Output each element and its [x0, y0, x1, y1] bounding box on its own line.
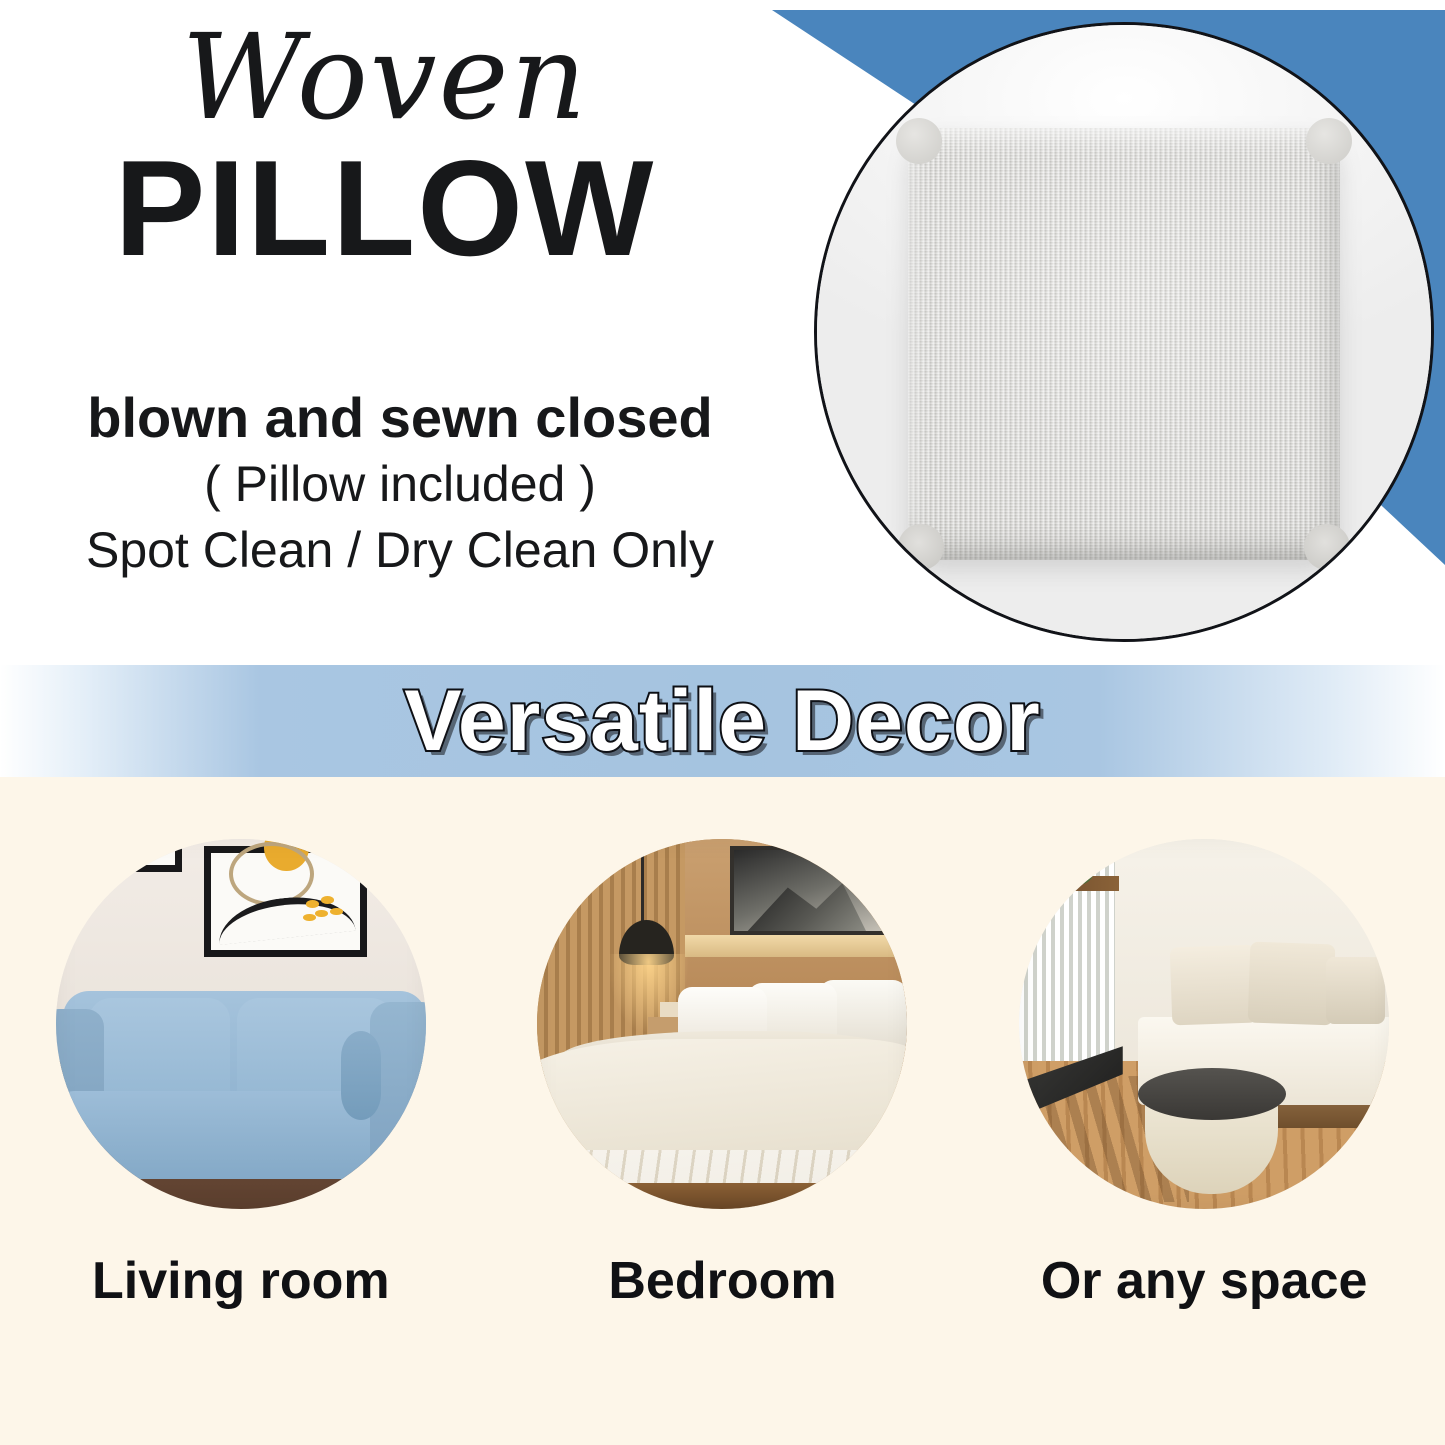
mountain-artwork	[730, 846, 908, 935]
page-title-script: Woven	[0, 18, 770, 136]
usage-section: Living room	[0, 777, 1445, 1445]
living-room-photo	[56, 839, 426, 1209]
pendant-lamp-cord	[641, 846, 644, 927]
usage-card-label: Living room	[92, 1251, 390, 1311]
living-room-scene	[56, 839, 426, 1209]
woven-pillow-image	[908, 128, 1340, 560]
pillow-corner-bottom-left	[898, 524, 944, 570]
feature-list: blown and sewn closed ( Pillow included …	[0, 385, 800, 583]
outdoor-greenery	[1056, 846, 1100, 890]
daybed-pillow-left	[1169, 945, 1257, 1026]
usage-card-bedroom: Bedroom	[522, 839, 922, 1311]
sofa-bolster-pillow	[341, 1031, 382, 1120]
product-title-block: Woven PILLOW	[0, 18, 770, 276]
any-space-scene	[1019, 839, 1389, 1209]
hero-section: Woven PILLOW blown and sewn closed ( Pil…	[0, 0, 1445, 665]
art-wave-line	[215, 891, 355, 945]
any-space-photo	[1019, 839, 1389, 1209]
feature-line-care: Spot Clean / Dry Clean Only	[0, 517, 800, 583]
art-dot	[306, 900, 319, 908]
bedroom-photo	[537, 839, 907, 1209]
small-picture-frame	[108, 839, 182, 872]
backlit-ledge	[685, 935, 907, 957]
artwork-mountain-shape	[747, 878, 866, 931]
page-title-main: PILLOW	[0, 140, 770, 276]
banner-title: Versatile Decor	[404, 678, 1040, 764]
art-dot	[321, 896, 334, 904]
bedroom-scene	[537, 839, 907, 1209]
product-infographic: Woven PILLOW blown and sewn closed ( Pil…	[0, 0, 1445, 1445]
daybed-pillow-right	[1326, 957, 1385, 1024]
usage-card-list: Living room	[0, 777, 1445, 1311]
versatile-decor-banner: Versatile Decor	[0, 665, 1445, 777]
daybed-pillow-middle	[1247, 941, 1335, 1025]
usage-card-living-room: Living room	[41, 839, 441, 1311]
round-side-table-top	[1138, 1068, 1286, 1120]
feature-line-inclusion: ( Pillow included )	[0, 451, 800, 517]
usage-card-label: Or any space	[1041, 1251, 1368, 1311]
feature-line-construction: blown and sewn closed	[0, 385, 800, 451]
abstract-art-frame	[204, 846, 367, 957]
pillow-corner-bottom-right	[1304, 524, 1350, 570]
wall-switch	[660, 1002, 679, 1017]
usage-card-any-space: Or any space	[1004, 839, 1404, 1311]
art-circle-line	[229, 842, 314, 906]
bed-base	[537, 1183, 907, 1209]
hero-pillow-photo	[814, 22, 1434, 642]
usage-card-label: Bedroom	[608, 1251, 836, 1311]
